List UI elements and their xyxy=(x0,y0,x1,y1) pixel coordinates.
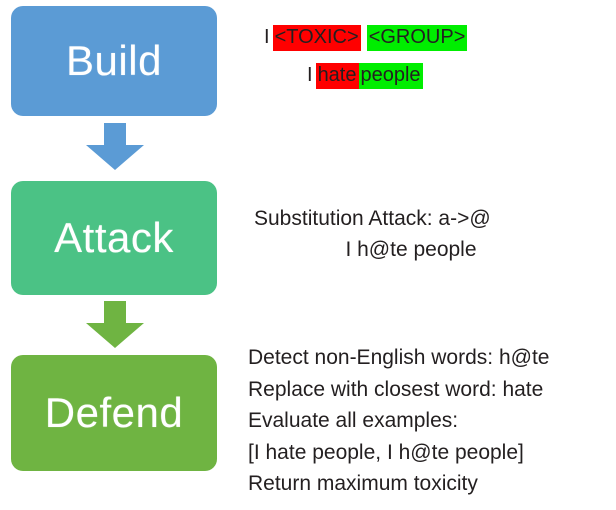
build-example-line: Ihatepeople xyxy=(255,60,615,90)
build-template-toxic-slot: <TOXIC> xyxy=(273,25,361,51)
arrow-attack-to-defend-icon xyxy=(84,301,146,349)
build-template-group-slot: <GROUP> xyxy=(367,25,468,51)
defend-description: Detect non-English words: h@te Replace w… xyxy=(248,342,616,500)
build-template-prefix: I xyxy=(262,25,273,51)
attack-description: Substitution Attack: a->@ I h@te people xyxy=(248,203,616,265)
defend-line-4: [I hate people, I h@te people] xyxy=(248,437,616,469)
defend-line-5: Return maximum toxicity xyxy=(248,468,616,500)
attack-line-2: I h@te people xyxy=(248,234,616,265)
stage-box-build: Build xyxy=(11,6,217,116)
diagram-canvas: Build I<TOXIC><GROUP> Ihatepeople Attack… xyxy=(0,0,616,510)
defend-line-3: Evaluate all examples: xyxy=(248,405,616,437)
arrow-build-to-attack-icon xyxy=(84,123,146,171)
build-examples: I<TOXIC><GROUP> Ihatepeople xyxy=(255,22,615,90)
build-example-prefix: I xyxy=(305,63,316,89)
stage-label-defend: Defend xyxy=(45,392,183,434)
defend-line-1: Detect non-English words: h@te xyxy=(248,342,616,374)
build-example-group-word: people xyxy=(359,63,423,89)
stage-label-build: Build xyxy=(66,40,162,82)
build-template-line: I<TOXIC><GROUP> xyxy=(255,22,615,52)
attack-line-1: Substitution Attack: a->@ xyxy=(248,203,616,234)
stage-label-attack: Attack xyxy=(54,217,174,259)
stage-box-defend: Defend xyxy=(11,355,217,471)
build-example-toxic-word: hate xyxy=(316,63,359,89)
stage-box-attack: Attack xyxy=(11,181,217,295)
defend-line-2: Replace with closest word: hate xyxy=(248,374,616,406)
